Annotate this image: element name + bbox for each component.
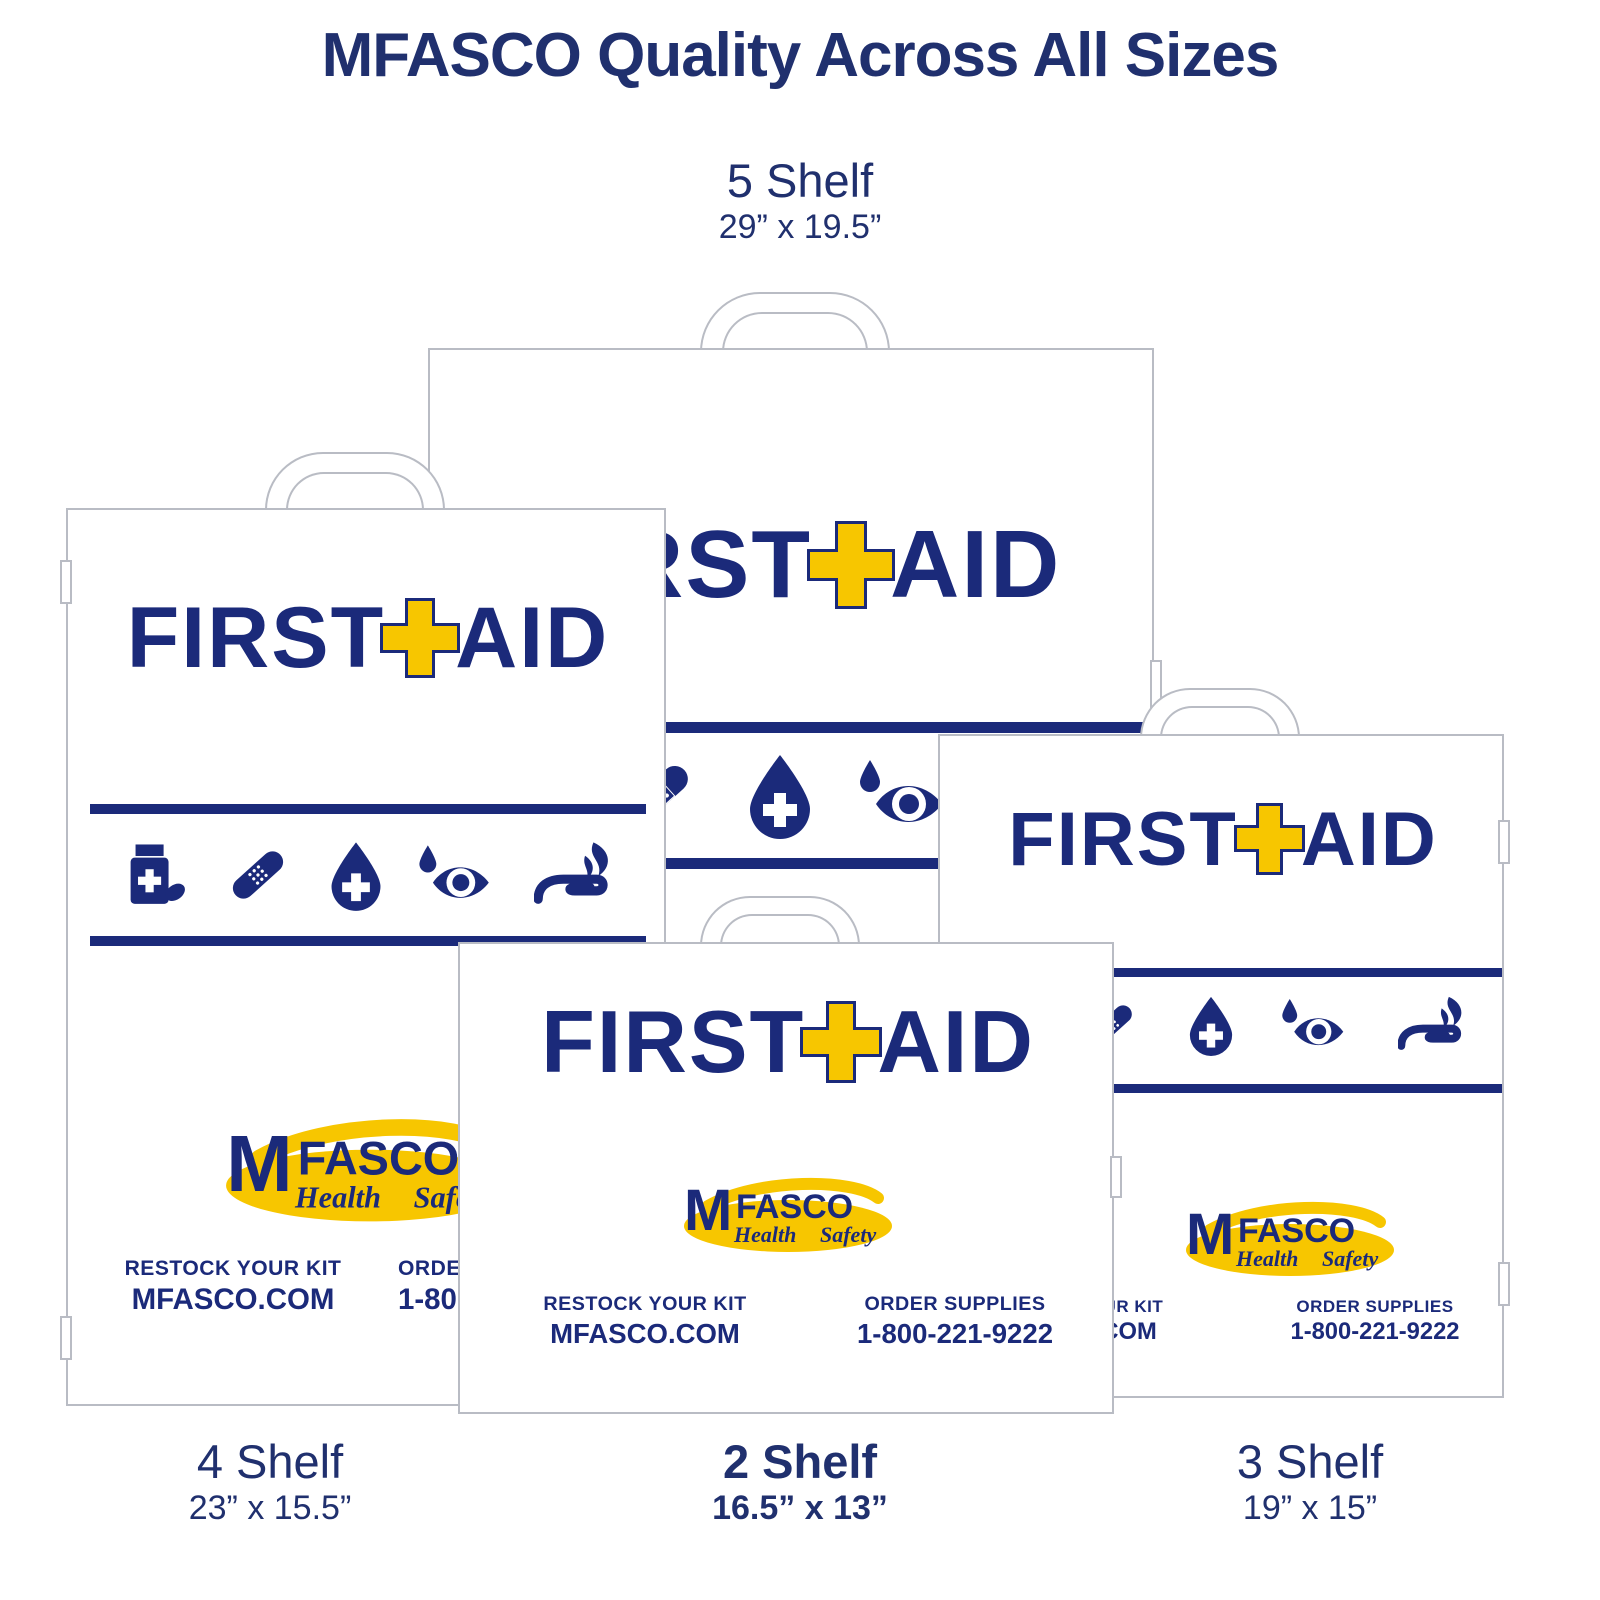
case-3-shelf-wordmark: FIRST AID: [940, 794, 1504, 884]
case-3-shelf-hinge-bottom: [1498, 1262, 1510, 1306]
medical-cross-icon: [408, 601, 432, 675]
case-4-shelf-icon-row: [108, 832, 632, 918]
eye-wash-icon: [419, 842, 501, 908]
case-2-shelf-wordmark: FIRST AID: [460, 992, 1114, 1092]
page-title: MFASCO Quality Across All Sizes: [0, 20, 1600, 91]
case-4-shelf-hinge-bottom: [60, 1316, 72, 1360]
svg-text:M: M: [1186, 1202, 1234, 1267]
burn-hand-icon: [534, 839, 616, 911]
case-2-shelf-footer-restock: RESTOCK YOUR KIT MFASCO.COM: [500, 1292, 790, 1351]
wordmark-aid-text: AID: [877, 991, 1035, 1093]
restock-value: MFASCO.COM: [88, 1282, 378, 1319]
wordmark-first-text: FIRST: [1008, 796, 1238, 883]
size-label-2-shelf: 2 Shelf 16.5” x 13”: [600, 1436, 1000, 1527]
case-2-shelf-body: FIRST AID M FASCO Health Safety RESTOCK …: [458, 942, 1114, 1414]
case-4-shelf-hinge-top: [60, 560, 72, 604]
wordmark-aid-text: AID: [1301, 796, 1438, 883]
size-label-3-shelf: 3 Shelf 19” x 15”: [1120, 1436, 1500, 1527]
restock-heading: RESTOCK YOUR KIT: [500, 1292, 790, 1317]
size-label-4-shelf-name: 4 Shelf: [90, 1436, 450, 1489]
case-3-shelf-logo: M FASCO Health Safety: [1170, 1196, 1460, 1280]
size-label-5-shelf-name: 5 Shelf: [590, 155, 1010, 208]
case-4-shelf-stripe-top: [90, 804, 646, 814]
wordmark-aid-text: AID: [890, 510, 1061, 620]
svg-text:Health: Health: [294, 1181, 381, 1215]
case-4-shelf-footer-restock: RESTOCK YOUR KIT MFASCO.COM: [88, 1256, 378, 1319]
case-5-shelf-handle-inner: [722, 312, 868, 352]
size-label-3-shelf-dims: 19” x 15”: [1120, 1489, 1500, 1527]
order-heading: ORDER SUPPLIES: [820, 1292, 1090, 1317]
wordmark-first-text: FIRST: [541, 991, 805, 1093]
blood-drop-icon: [325, 839, 387, 911]
size-label-5-shelf: 5 Shelf 29” x 19.5”: [590, 155, 1010, 246]
svg-text:Health: Health: [733, 1222, 796, 1247]
wordmark-first-text: FIRST: [127, 589, 385, 688]
burn-hand-icon: [1398, 994, 1468, 1056]
order-value: 1-800-221-9222: [1250, 1317, 1500, 1347]
size-label-2-shelf-name: 2 Shelf: [600, 1436, 1000, 1489]
wordmark-aid-text: AID: [455, 589, 609, 688]
case-4-shelf-handle-inner: [286, 472, 424, 510]
case-2-shelf-logo: M FASCO Health Safety: [668, 1172, 958, 1256]
case-3-shelf-hinge-top: [1498, 820, 1510, 864]
case-2-shelf-hinge: [1110, 1156, 1122, 1198]
size-label-3-shelf-name: 3 Shelf: [1120, 1436, 1500, 1489]
size-label-4-shelf-dims: 23” x 15.5”: [90, 1489, 450, 1527]
medical-cross-icon: [1259, 806, 1280, 872]
size-label-5-shelf-dims: 29” x 19.5”: [590, 208, 1010, 246]
order-value: 1-800-221-9222: [820, 1317, 1090, 1351]
blood-drop-icon: [742, 751, 818, 839]
svg-text:FASCO: FASCO: [298, 1133, 459, 1185]
restock-value: MFASCO.COM: [500, 1317, 790, 1351]
case-3-shelf-icon-row: [1060, 988, 1490, 1062]
svg-text:Health: Health: [1235, 1246, 1298, 1271]
order-heading: ORDER SUPPLIES: [1250, 1296, 1500, 1317]
case-4-shelf-wordmark: FIRST AID: [68, 588, 666, 688]
medical-cross-icon: [838, 524, 864, 606]
blood-drop-icon: [1184, 994, 1238, 1056]
svg-text:Safety: Safety: [820, 1222, 876, 1247]
svg-text:M: M: [226, 1119, 293, 1208]
bandage-icon: [223, 840, 293, 910]
size-label-4-shelf: 4 Shelf 23” x 15.5”: [90, 1436, 450, 1527]
eye-wash-icon: [1282, 996, 1354, 1054]
svg-text:FASCO: FASCO: [736, 1188, 853, 1226]
size-label-2-shelf-dims: 16.5” x 13”: [600, 1489, 1000, 1527]
pill-bottle-icon: [124, 839, 190, 911]
svg-text:Safety: Safety: [1322, 1246, 1378, 1271]
svg-text:FASCO: FASCO: [1238, 1212, 1355, 1250]
svg-text:M: M: [684, 1178, 732, 1243]
restock-heading: RESTOCK YOUR KIT: [88, 1256, 378, 1282]
medical-cross-icon: [829, 1004, 853, 1080]
case-2-shelf-footer-order: ORDER SUPPLIES 1-800-221-9222: [820, 1292, 1090, 1351]
case-3-shelf-footer-order: ORDER SUPPLIES 1-800-221-9222: [1250, 1296, 1500, 1347]
